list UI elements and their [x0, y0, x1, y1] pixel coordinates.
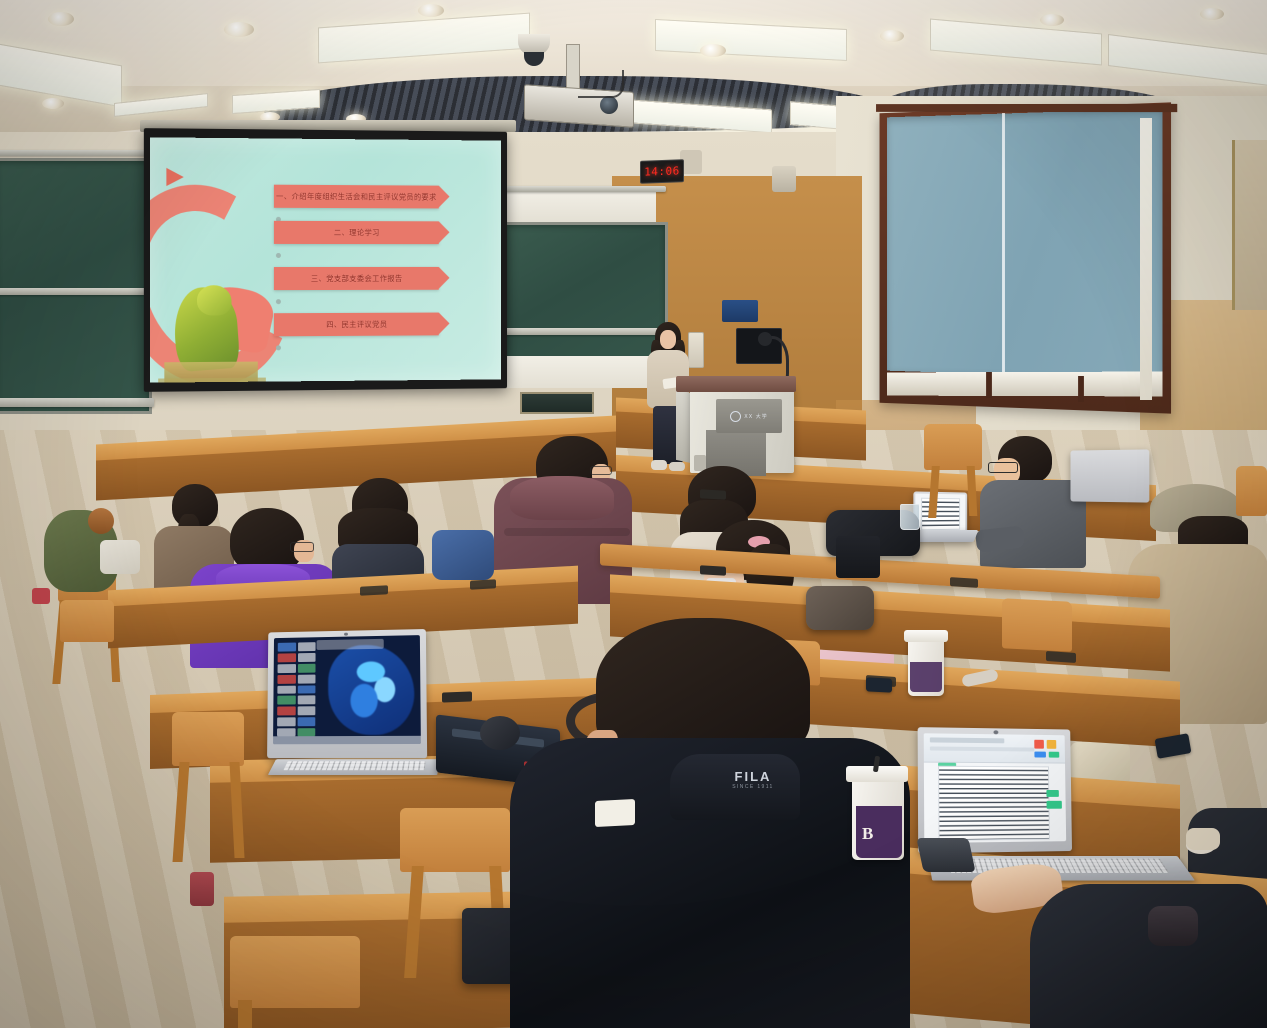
fila-logo: FILA SINCE 1911	[718, 768, 788, 790]
laptop-far-right-lid[interactable]	[1070, 449, 1149, 502]
chalkboard-left	[0, 158, 152, 414]
red-item	[32, 588, 50, 604]
slide-agenda-item-2: 二、理论学习	[274, 221, 439, 244]
laptop-back-right-screen	[915, 494, 965, 533]
cap-brim	[1140, 502, 1180, 524]
jacket-fold	[1148, 906, 1198, 946]
downlight	[224, 22, 254, 37]
student-dark-coat-left	[330, 478, 426, 590]
backpack-strap	[836, 536, 880, 578]
window-glass-strip	[887, 372, 1163, 397]
slide-agenda-item-1: 一、介绍年度组织生活会和民主评议党员的要求	[274, 185, 439, 209]
document-side-marker	[1046, 790, 1058, 796]
laptop-front-left-lid[interactable]	[267, 629, 427, 758]
windows-wallpaper	[328, 644, 414, 736]
chalk-rail	[0, 150, 146, 156]
chair[interactable]	[230, 936, 360, 1008]
chalkboard-center	[504, 222, 668, 362]
agenda-label-3: 三、党支部支委会工作报告	[311, 273, 403, 283]
webcam	[993, 730, 998, 734]
paper-sheet	[595, 799, 635, 827]
coffee-cup-sleeve: B	[856, 806, 902, 858]
puffer-hood	[510, 476, 614, 520]
presenter-face	[660, 330, 676, 349]
puffer-seam	[504, 528, 630, 536]
clock-time: 14:06	[644, 164, 680, 178]
attendee-right-jacket	[1030, 884, 1267, 1028]
downlight	[880, 30, 904, 42]
hand-right-edge	[1186, 828, 1220, 850]
laptop-front-right-screen	[924, 733, 1066, 843]
projection-screen: 一、介绍年度组织生活会和民主评议党员的要求 二、理论学习 三、党支部支委会工作报…	[150, 137, 501, 382]
chair[interactable]	[924, 424, 982, 470]
eyeglasses	[590, 466, 612, 475]
projector-lens	[600, 96, 618, 114]
desk-cable-port	[1046, 651, 1076, 663]
lectern-emblem-plate: XX 大学	[716, 399, 782, 433]
fila-sub-text: SINCE 1911	[732, 784, 773, 790]
downlight	[700, 44, 726, 57]
chair-leg	[238, 1000, 252, 1028]
chair[interactable]	[400, 808, 510, 872]
desk-cable-port	[470, 579, 496, 589]
red-bag-on-floor	[190, 872, 214, 906]
lectern-top-surface	[676, 376, 796, 392]
downlight	[1200, 8, 1224, 20]
ribbon-accent-yellow	[1047, 740, 1057, 749]
lectern-institution-label: XX 大学	[744, 413, 767, 420]
cup-logo-letter: B	[856, 806, 902, 844]
slide-bullet-dot	[276, 345, 281, 350]
laptop-front-left-keyboard[interactable]	[268, 759, 439, 775]
blind-seam	[1002, 113, 1005, 375]
webcam	[344, 633, 348, 636]
wall-speaker	[772, 166, 796, 192]
fur-hood-trim	[88, 508, 114, 534]
laptop-back-right-lid[interactable]	[913, 491, 967, 534]
slide-bullet-dot	[276, 299, 281, 304]
agenda-label-4: 四、民主评议党员	[326, 319, 387, 329]
laptop-front-left-screen	[273, 635, 421, 744]
slide-agenda-item-3: 三、党支部支委会工作报告	[274, 267, 439, 290]
desk-cable-port	[700, 489, 726, 499]
blue-backpack[interactable]	[432, 530, 494, 580]
chalk-rail	[500, 186, 666, 192]
chalk-rail	[502, 328, 666, 335]
wall-sign	[722, 300, 758, 322]
slide-agenda-item-4: 四、民主评议党员	[274, 313, 439, 337]
wall-frame	[1232, 140, 1267, 310]
digital-wall-clock: 14:06	[640, 159, 684, 184]
downlight	[1040, 14, 1064, 26]
eyeglasses	[988, 462, 1018, 473]
ribbon-accent-red	[1035, 740, 1045, 749]
stone-lion-head-graphic	[197, 285, 232, 315]
chair[interactable]	[172, 712, 244, 766]
downlight	[42, 98, 64, 109]
window-roller-blind[interactable]	[887, 108, 1163, 379]
desktop-search-bar[interactable]	[317, 639, 384, 650]
desk-cable-port	[700, 565, 726, 575]
windows-taskbar[interactable]	[273, 736, 421, 744]
desk-cable-port	[950, 577, 978, 588]
window-mullion	[1078, 376, 1084, 402]
foreground-attendee-right	[952, 866, 1267, 1028]
laptop-front-right-lid[interactable]	[918, 727, 1072, 853]
desk-cable-port	[442, 691, 472, 702]
microphone-head	[758, 332, 772, 346]
chair[interactable]	[60, 600, 114, 642]
window-mullion	[986, 372, 992, 398]
university-emblem-icon	[730, 411, 741, 422]
document-body-text[interactable]	[938, 766, 1049, 841]
lecture-hall-photo: 14:06 一、介绍年度组织生活会和民主评议党员的要求 二、理论学习 三、党支部…	[0, 0, 1267, 1028]
desktop-icons[interactable]	[277, 643, 315, 737]
window-header-rail	[876, 104, 1177, 112]
whiteboard-strip	[500, 356, 666, 388]
slide-bullet-dot	[276, 253, 281, 258]
desk-cable-port	[360, 585, 388, 595]
chalk-rail	[0, 398, 154, 407]
whiteboard-strip	[506, 190, 656, 224]
chalk-rail	[0, 288, 146, 295]
glass-tumbler	[900, 504, 920, 530]
white-item-on-desk	[100, 540, 140, 574]
chair[interactable]	[1002, 598, 1072, 652]
ribbon-accent-green	[1048, 752, 1059, 757]
chair[interactable]	[1236, 466, 1267, 516]
agenda-label-2: 二、理论学习	[334, 228, 380, 238]
ribbon-accent-blue	[1035, 752, 1046, 757]
play-triangle-icon	[166, 168, 183, 186]
downlight	[48, 12, 74, 26]
ribbon-tabs[interactable]	[930, 738, 1004, 743]
downlight	[418, 4, 444, 17]
eyeglasses	[290, 542, 314, 552]
agenda-label-1: 一、介绍年度组织生活会和民主评议党员的要求	[276, 191, 437, 202]
board-eraser-tray	[520, 392, 594, 414]
window-light-gap	[1140, 118, 1152, 400]
projector-cable	[578, 70, 624, 98]
fila-brand-text: FILA	[735, 769, 772, 784]
document-side-marker	[1046, 801, 1061, 808]
